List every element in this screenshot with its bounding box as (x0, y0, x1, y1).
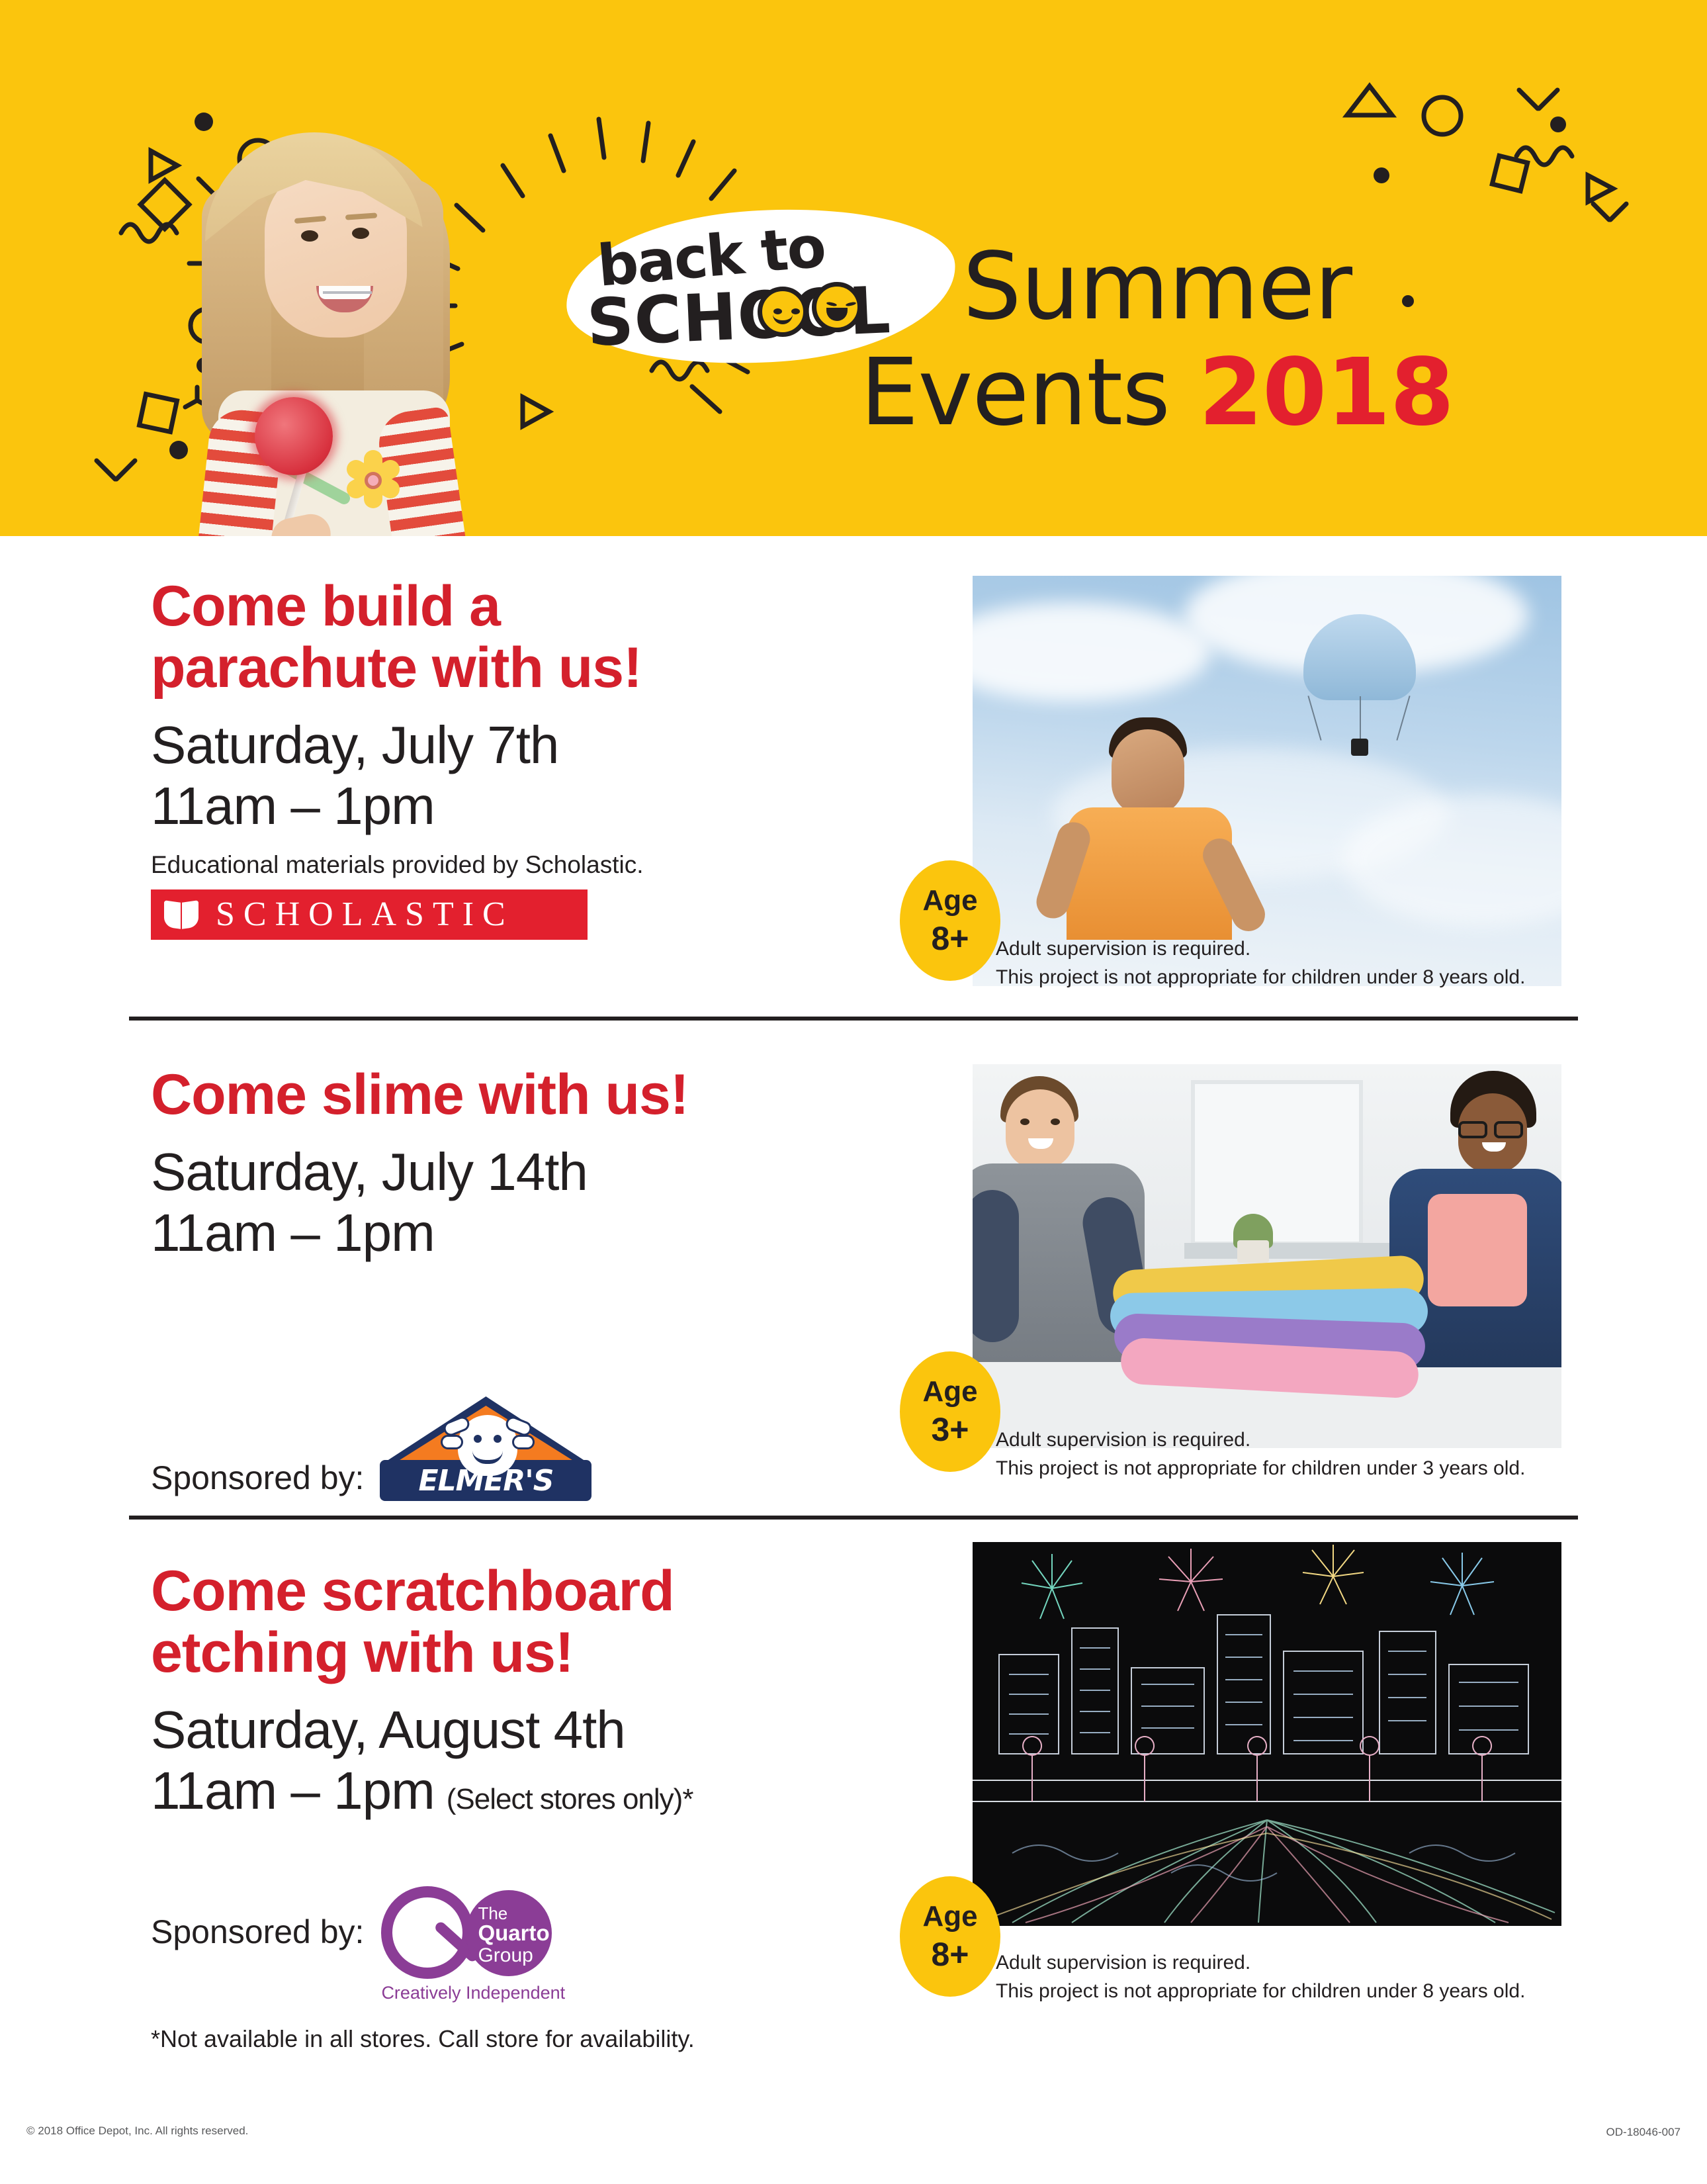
header-title-line-1: Summer (963, 233, 1352, 341)
document-code: OD-18046-007 (1606, 2126, 1681, 2139)
age-label: Age (922, 886, 977, 915)
age-value: 3+ (931, 1413, 969, 1446)
scholastic-logo: SCHOLASTIC (151, 889, 588, 940)
event-1-title: Come build a parachute with us! (151, 576, 892, 699)
event-1-note: Educational materials provided by Schola… (151, 851, 892, 879)
event-3-photo (973, 1542, 1561, 1926)
quarto-line-3: Group (478, 1945, 552, 1966)
availability-footnote: *Not available in all stores. Call store… (151, 2025, 695, 2053)
age-label: Age (922, 1902, 977, 1931)
age-label: Age (922, 1377, 977, 1406)
event-2-date: Saturday, July 14th (151, 1142, 892, 1203)
elmers-logo: ELMER'S (380, 1396, 591, 1502)
event-3-time: 11am – 1pm (Select stores only)* (151, 1760, 932, 1821)
event-2-age-badge: Age 3+ (900, 1351, 1000, 1472)
event-1-date: Saturday, July 7th (151, 715, 892, 776)
pom-pom-pen (255, 397, 333, 475)
scholastic-wordmark: SCHOLASTIC (216, 895, 514, 934)
bull-head-icon (458, 1415, 517, 1476)
header-title-events: Events (860, 339, 1170, 447)
quarto-group-logo: The Quarto Group Creatively Independent (381, 1886, 573, 1985)
q-letter-icon (381, 1886, 474, 1979)
event-2-disclaimer: Adult supervision is required. This proj… (996, 1426, 1525, 1482)
event-3-disclaimer: Adult supervision is required. This proj… (996, 1949, 1525, 2005)
event-3-title: Come scratchboard etching with us! (151, 1561, 932, 1684)
quarto-tagline: Creatively Independent (381, 1983, 586, 2003)
event-3-date: Saturday, August 4th (151, 1700, 932, 1760)
event-2-photo (973, 1064, 1561, 1448)
event-1-photo (973, 576, 1561, 986)
event-2-time: 11am – 1pm (151, 1203, 892, 1263)
header-banner: back to SCHOOL Summer Events 2018 (0, 0, 1707, 536)
open-book-icon (164, 901, 198, 928)
smiley-face-icon (758, 287, 808, 337)
header-title-line-2: Events 2018 (860, 339, 1454, 447)
event-1-disclaimer: Adult supervision is required. This proj… (996, 935, 1525, 991)
copyright-notice: © 2018 Office Depot, Inc. All rights res… (26, 2124, 248, 2138)
event-section-parachute: Come build a parachute with us! Saturday… (0, 536, 1707, 1026)
event-section-slime: Come slime with us! Saturday, July 14th … (0, 1026, 1707, 1516)
event-section-scratchboard: Come scratchboard etching with us! Satur… (0, 1516, 1707, 2098)
event-2-title: Come slime with us! (151, 1064, 892, 1126)
event-2-sponsor-label: Sponsored by: (151, 1459, 364, 1497)
event-3-time-suffix: (Select stores only)* (447, 1783, 693, 1817)
laughing-face-icon (812, 282, 862, 332)
quarto-line-2: Quarto (478, 1922, 552, 1945)
event-1-time: 11am – 1pm (151, 776, 892, 837)
section-divider-1 (129, 1017, 1578, 1021)
girl-photo (165, 79, 503, 536)
event-3-sponsor-label: Sponsored by: (151, 1913, 364, 1951)
quarto-line-1: The (478, 1905, 552, 1922)
header-title-year: 2018 (1199, 339, 1454, 447)
age-value: 8+ (931, 922, 969, 955)
age-value: 8+ (931, 1938, 969, 1971)
event-3-age-badge: Age 8+ (900, 1876, 1000, 1997)
event-1-age-badge: Age 8+ (900, 860, 1000, 981)
